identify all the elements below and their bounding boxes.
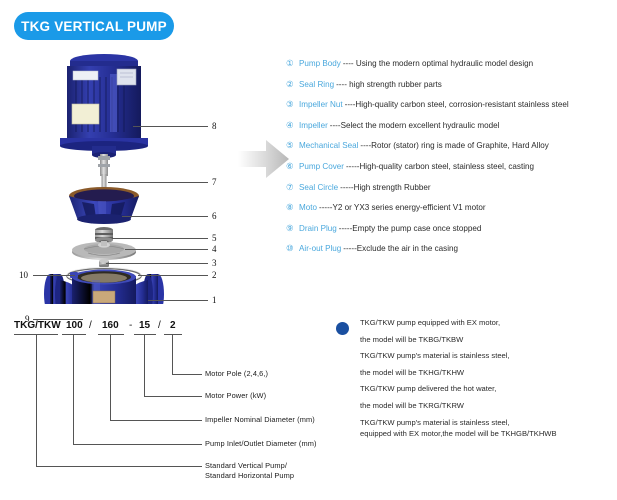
- code-separator-slash-1: /: [89, 320, 92, 331]
- legend-item: ⑦ Seal Circle -----High strength Rubber: [286, 182, 616, 193]
- legend-description: -----High-quality carbon steel, stainles…: [346, 162, 534, 172]
- legend-number: ④: [286, 120, 297, 130]
- note-line: the model will be TKBG/TKBW: [360, 335, 617, 344]
- legend-item: ⑨ Drain Plug -----Empty the pump case on…: [286, 223, 616, 234]
- legend-item: ⑤ Mechanical Seal ----Rotor (stator) rin…: [286, 140, 616, 151]
- code-segment-impeller: 160: [102, 320, 119, 331]
- callout-number-2: 2: [212, 270, 217, 280]
- legend-part-name: Pump Body: [299, 59, 341, 69]
- leader-line-3: [106, 263, 208, 264]
- legend-description: ---- high strength rubber parts: [336, 80, 442, 90]
- code-underline-impeller: [98, 334, 124, 335]
- callout-number-1: 1: [212, 295, 217, 305]
- code-segment-inlet: 100: [66, 320, 83, 331]
- connector-pole: [172, 374, 202, 375]
- code-segment-power: 15: [139, 320, 150, 331]
- connector-inlet: [73, 444, 202, 445]
- leader-line-10: [33, 275, 75, 276]
- note-line: TKG/TKW pump delivered the hot water,: [360, 384, 617, 393]
- connector-impeller: [110, 420, 202, 421]
- legend-number: ①: [286, 58, 297, 68]
- legend-number: ⑦: [286, 182, 297, 192]
- model-label-inlet-diameter: Pump Inlet/Outlet Diameter (mm): [205, 439, 317, 448]
- legend-item: ② Seal Ring ---- high strength rubber pa…: [286, 79, 616, 90]
- leader-line-5: [112, 238, 208, 239]
- callout-number-7: 7: [212, 177, 217, 187]
- legend-part-name: Moto: [299, 203, 317, 213]
- code-separator-slash-2: /: [158, 320, 161, 331]
- right-arrow-icon: [238, 138, 290, 180]
- legend-number: ⑥: [286, 161, 297, 171]
- leader-line-6: [122, 216, 208, 217]
- drop-line-impeller: [110, 334, 111, 420]
- note-line: TKG/TKW pump equipped with EX motor,: [360, 318, 617, 327]
- legend-number: ⑨: [286, 223, 297, 233]
- drop-line-power: [144, 334, 145, 396]
- drop-line-series: [36, 334, 37, 466]
- callout-number-5: 5: [212, 233, 217, 243]
- legend-description: ----Select the modern excellent hydrauli…: [330, 121, 500, 131]
- page-title: TKG VERTICAL PUMP: [21, 19, 167, 34]
- parts-legend-list: ① Pump Body ---- Using the modern optima…: [286, 58, 616, 264]
- legend-item: ⑩ Air-out Plug -----Exclude the air in t…: [286, 243, 616, 254]
- drop-line-inlet: [73, 334, 74, 444]
- code-underline-power: [134, 334, 156, 335]
- legend-part-name: Mechanical Seal: [299, 141, 358, 151]
- legend-part-name: Impeller: [299, 121, 328, 131]
- code-segment-series: TKG/TKW: [14, 320, 61, 331]
- callout-number-10: 10: [19, 270, 28, 280]
- model-label-impeller-diameter: Impeller Nominal Diameter (mm): [205, 415, 315, 424]
- legend-part-name: Seal Circle: [299, 183, 338, 193]
- note-line: TKG/TKW pump's material is stainless ste…: [360, 418, 617, 427]
- model-label-motor-pole: Motor Pole (2,4,6,): [205, 369, 268, 378]
- legend-part-name: Drain Plug: [299, 224, 337, 234]
- legend-number: ③: [286, 99, 297, 109]
- leader-line-4: [125, 249, 208, 250]
- note-line: TKG/TKW pump's material is stainless ste…: [360, 351, 617, 360]
- page-title-banner: TKG VERTICAL PUMP: [14, 12, 174, 40]
- legend-part-name: Seal Ring: [299, 80, 334, 90]
- legend-number: ⑩: [286, 243, 297, 253]
- legend-number: ②: [286, 79, 297, 89]
- code-segment-pole: 2: [170, 320, 176, 331]
- model-label-standard-vertical: Standard Vertical Pump/: [205, 461, 287, 470]
- note-line: equipped with EX motor,the model will be…: [360, 429, 617, 438]
- callout-layer: 8 7 6 5 4 3 2 1 10 9: [0, 44, 245, 304]
- callout-number-6: 6: [212, 211, 217, 221]
- model-label-motor-power: Motor Power (kW): [205, 391, 266, 400]
- legend-part-name: Impeller Nut: [299, 100, 343, 110]
- pump-product-sheet: TKG VERTICAL PUMP: [0, 0, 617, 500]
- model-label-standard-horizontal: Standard Horizontal Pump: [205, 471, 294, 480]
- legend-number: ⑧: [286, 202, 297, 212]
- leader-line-1: [148, 300, 208, 301]
- connector-series: [36, 466, 202, 467]
- code-separator-dash: -: [129, 320, 132, 331]
- legend-description: -----Y2 or YX3 series energy-efficient V…: [319, 203, 486, 213]
- legend-item: ⑥ Pump Cover -----High-quality carbon st…: [286, 161, 616, 172]
- legend-description: -----Empty the pump case once stopped: [339, 224, 482, 234]
- legend-description: -----High strength Rubber: [340, 183, 430, 193]
- note-line: the model will be TKHG/TKHW: [360, 368, 617, 377]
- callout-number-8: 8: [212, 121, 217, 131]
- legend-description: ----Rotor (stator) ring is made of Graph…: [360, 141, 548, 151]
- leader-line-7: [108, 182, 208, 183]
- code-underline-inlet: [62, 334, 86, 335]
- legend-item: ③ Impeller Nut ----High-quality carbon s…: [286, 99, 616, 110]
- legend-part-name: Air-out Plug: [299, 244, 341, 254]
- leader-line-8: [133, 126, 208, 127]
- callout-number-3: 3: [212, 258, 217, 268]
- legend-description: ---- Using the modern optimal hydraulic …: [343, 59, 533, 69]
- model-code-breakdown: TKG/TKW 100 / 160 - 15 / 2 Motor Pole (2…: [0, 310, 340, 500]
- legend-part-name: Pump Cover: [299, 162, 344, 172]
- legend-item: ① Pump Body ---- Using the modern optima…: [286, 58, 616, 69]
- callout-number-4: 4: [212, 244, 217, 254]
- note-line: the model will be TKRG/TKRW: [360, 401, 617, 410]
- legend-item: ⑧ Moto -----Y2 or YX3 series energy-effi…: [286, 202, 616, 213]
- legend-description: ----High-quality carbon steel, corrosion…: [345, 100, 569, 110]
- leader-line-2: [138, 275, 208, 276]
- code-underline-pole: [164, 334, 182, 335]
- bullet-dot-icon: [336, 322, 349, 335]
- legend-item: ④ Impeller ----Select the modern excelle…: [286, 120, 616, 131]
- model-variant-notes: TKG/TKW pump equipped with EX motor, the…: [336, 318, 617, 445]
- drop-line-pole: [172, 334, 173, 374]
- connector-power: [144, 396, 202, 397]
- legend-number: ⑤: [286, 140, 297, 150]
- legend-description: -----Exclude the air in the casing: [343, 244, 458, 254]
